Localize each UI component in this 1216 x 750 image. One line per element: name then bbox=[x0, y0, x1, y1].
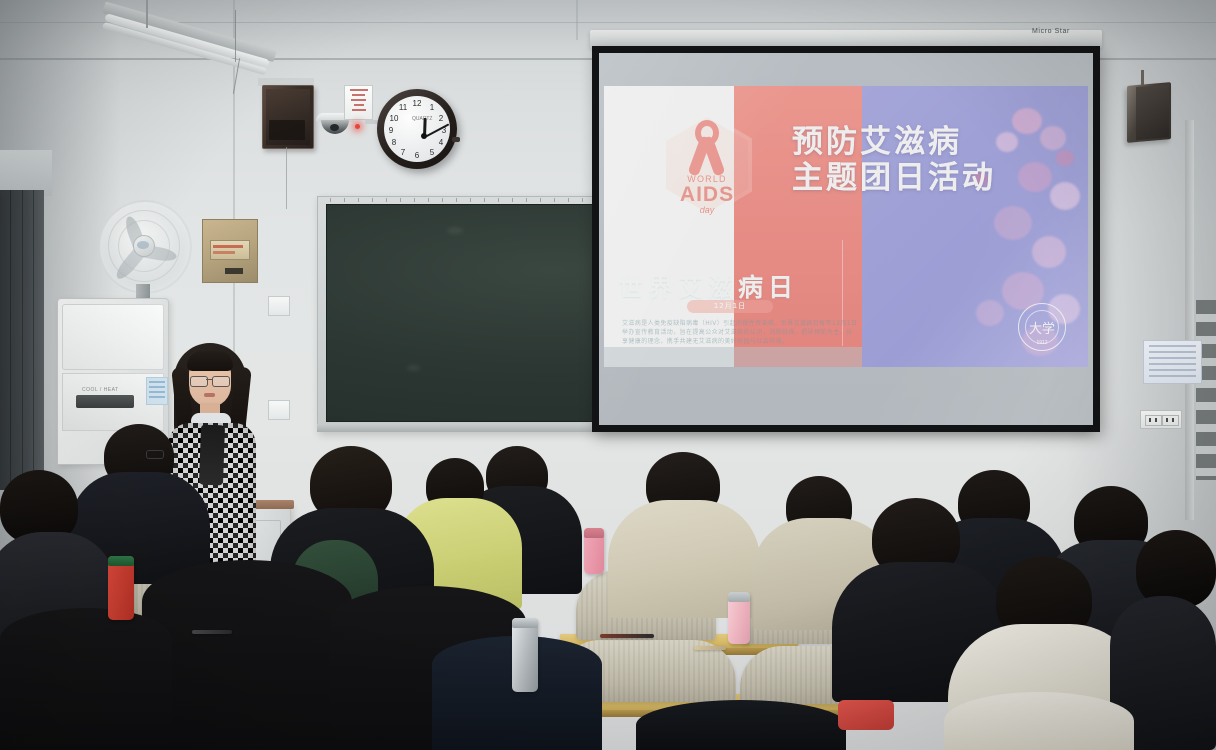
foreground-student-jacket bbox=[944, 692, 1134, 750]
clock-numeral: 4 bbox=[436, 138, 446, 147]
clock-brand-text: QUARTZ bbox=[412, 116, 432, 122]
hanging-wire bbox=[235, 10, 236, 62]
red-thermos[interactable] bbox=[108, 556, 134, 620]
clock-numeral: 2 bbox=[436, 114, 446, 123]
slide-subtitle: 世界艾滋病日 bbox=[618, 268, 848, 304]
clock-numeral: 9 bbox=[386, 126, 396, 135]
projected-slide: WORLD AIDS day 预防艾滋病 主题团日活动 世界艾滋病日 12月1日… bbox=[604, 86, 1088, 367]
slide-title: 预防艾滋病 主题团日活动 bbox=[792, 124, 1078, 196]
pen[interactable] bbox=[600, 634, 654, 638]
university-seal: 大学 1912 bbox=[1018, 303, 1066, 351]
power-socket-left[interactable] bbox=[268, 296, 290, 316]
clock-numeral: 6 bbox=[412, 151, 422, 160]
door-frame-right bbox=[1185, 120, 1194, 520]
seal-year: 1912 bbox=[1019, 340, 1065, 346]
foreground-student bbox=[142, 560, 352, 750]
pen[interactable] bbox=[192, 630, 232, 634]
world-aids-day-badge: WORLD AIDS day bbox=[662, 112, 752, 218]
slide-title-line1: 预防艾滋病 bbox=[792, 124, 1078, 160]
wall-poster-right bbox=[1143, 340, 1202, 384]
slide-body-text: 艾滋病是人类免疫缺陷病毒（HIV）引起的慢性传染病，世界艾滋病日每年12月1日举… bbox=[622, 319, 858, 346]
foreground-student bbox=[636, 700, 846, 750]
red-text-notice-sign bbox=[344, 85, 373, 120]
seal-glyph: 大学 bbox=[1019, 318, 1065, 337]
clock-side-tab bbox=[452, 137, 460, 142]
clock-numeral: 7 bbox=[398, 148, 408, 157]
slide-title-line2: 主题团日活动 bbox=[792, 160, 1078, 196]
clock-numeral: 5 bbox=[427, 148, 437, 157]
curtain-left bbox=[0, 190, 44, 490]
red-pencil-case[interactable] bbox=[838, 700, 894, 730]
pink-thermos[interactable] bbox=[584, 528, 604, 574]
pink-water-bottle[interactable] bbox=[728, 592, 750, 644]
speaker-cable bbox=[286, 147, 287, 209]
clock-numeral: 10 bbox=[389, 114, 399, 123]
aids-ribbon-icon bbox=[686, 120, 728, 176]
power-outlet-panel[interactable] bbox=[1140, 410, 1182, 429]
lamp-hanger-rod bbox=[146, 0, 148, 28]
screen-brand-label: Micro Star bbox=[1032, 28, 1070, 35]
eyeglasses-icon bbox=[146, 450, 164, 459]
clock-numeral: 12 bbox=[412, 99, 422, 108]
wall-speaker-right bbox=[1127, 82, 1171, 143]
slide-date-pill: 12月1日 bbox=[687, 300, 773, 313]
steel-thermos[interactable] bbox=[512, 618, 538, 692]
wall-seam-center bbox=[576, 0, 578, 40]
wall-clock: 12 1 2 3 4 5 6 7 8 9 10 11 QUARTZ bbox=[377, 89, 457, 169]
badge-day-text: day bbox=[662, 205, 752, 215]
badge-aids-text: AIDS bbox=[662, 183, 752, 207]
fan-control-panel[interactable] bbox=[202, 219, 258, 283]
clock-numeral: 8 bbox=[389, 138, 399, 147]
wall-edge-strip bbox=[1196, 300, 1216, 480]
wall-speaker-left bbox=[262, 85, 314, 149]
classroom-photo: 12 1 2 3 4 5 6 7 8 9 10 11 QUARTZ bbox=[0, 0, 1216, 750]
wall-mounted-fan[interactable] bbox=[98, 200, 194, 300]
pen[interactable] bbox=[694, 646, 726, 650]
foreground-student bbox=[0, 608, 172, 750]
power-socket-left-lower[interactable] bbox=[268, 400, 290, 420]
status-led-indicator bbox=[355, 124, 360, 129]
clock-numeral: 11 bbox=[398, 103, 408, 112]
clock-center-pin bbox=[421, 133, 427, 139]
chalkboard-top-ruler bbox=[330, 198, 630, 202]
clock-numeral: 1 bbox=[427, 103, 437, 112]
eyeglasses-icon bbox=[190, 372, 230, 383]
